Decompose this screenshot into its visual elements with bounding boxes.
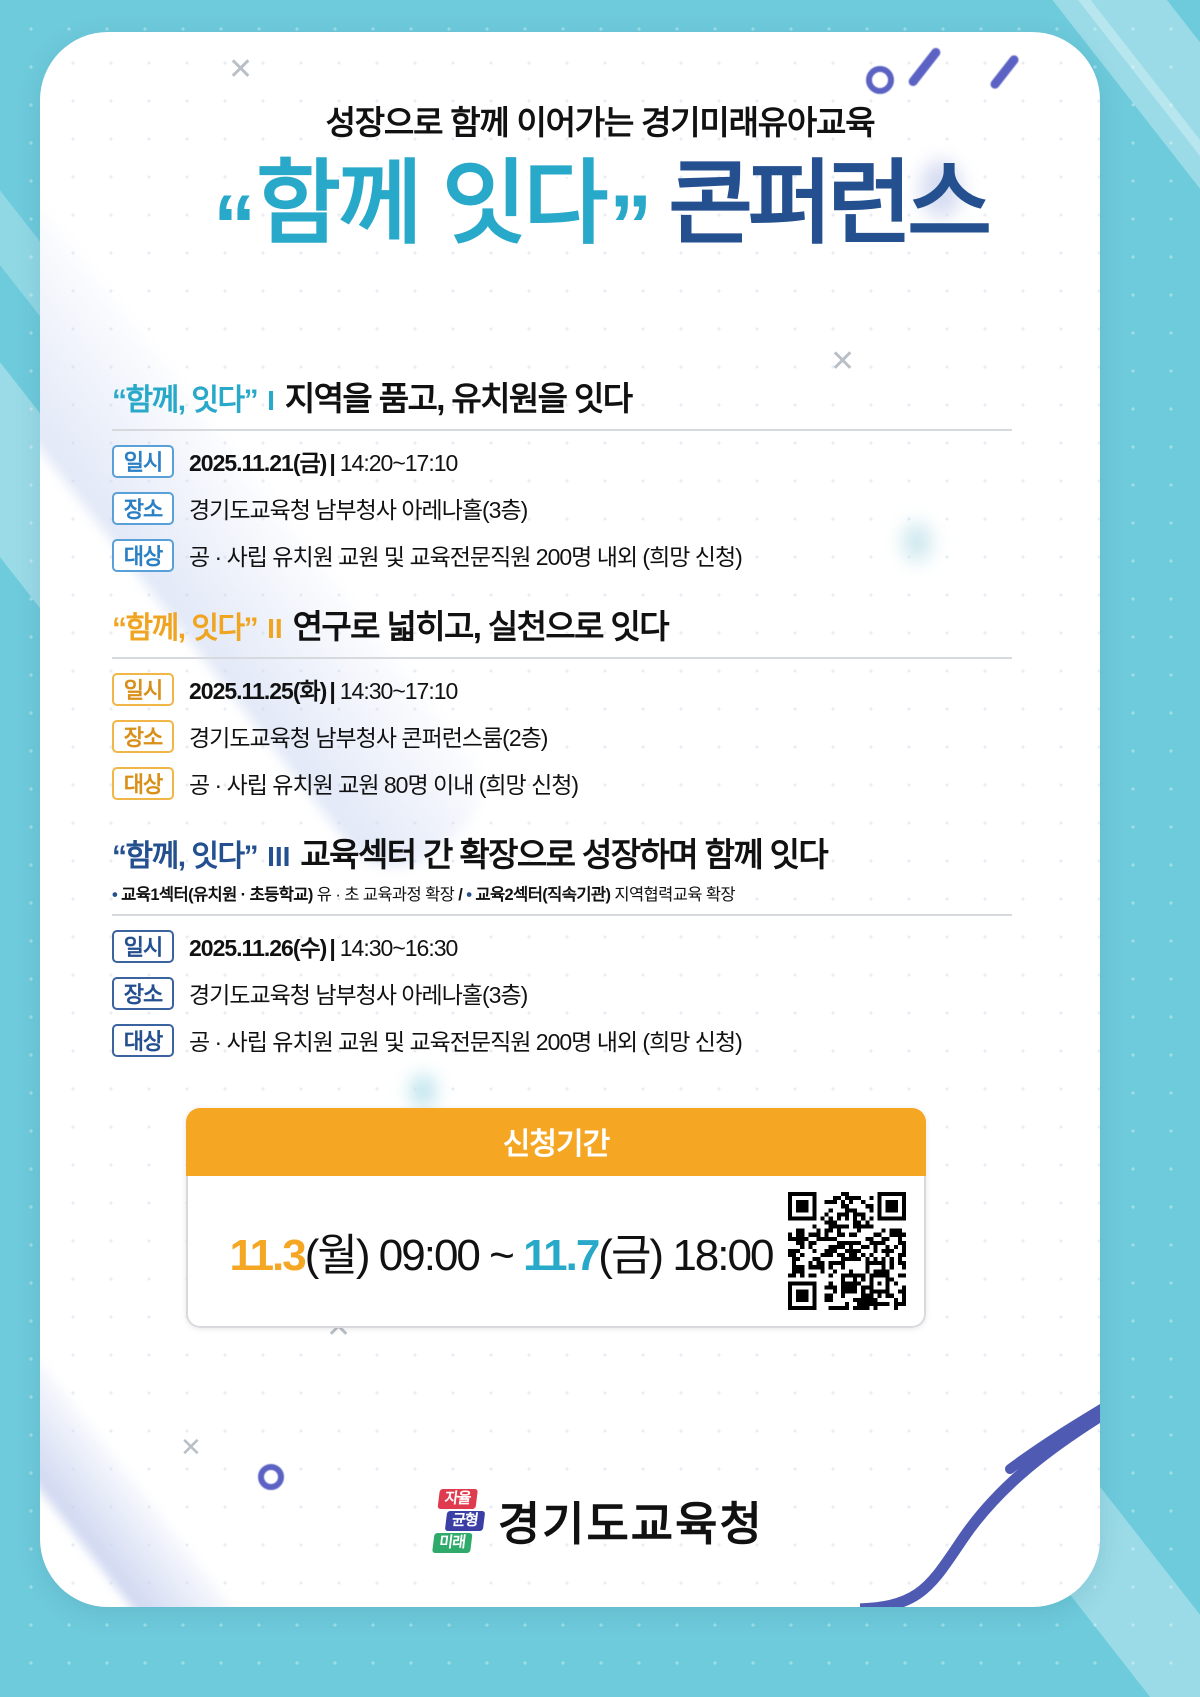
detail-row: 대상 공 · 사립 유치원 교원 80명 이내 (희망 신청) [112,766,1012,800]
detail-value: 2025.11.21(금)|14:20~17:10 [189,444,457,478]
start-date: 11.3 [230,1231,305,1280]
session-heading: “함께, 잇다” I 지역을 품고, 유치원을 잇다 [112,372,1012,420]
quote-open-icon: “ [213,196,252,256]
detail-row: 장소 경기도교육청 남부청사 콘퍼런스룸(2층) [112,719,1012,753]
session-block-2: “함께, 잇다” II 연구로 넓히고, 실천으로 잇다 일시 2025.11.… [112,600,1012,813]
session-detail-rows: 일시 2025.11.21(금)|14:20~17:10 장소 경기도교육청 남… [112,444,1012,572]
title-highlight: 함께 잇다 [256,158,605,250]
session-block-1: “함께, 잇다” I 지역을 품고, 유치원을 잇다 일시 2025.11.21… [112,372,1012,585]
application-period-heading: 신청기간 [186,1108,926,1176]
detail-separator: | [329,935,334,961]
start-time: 09:00 [379,1231,479,1280]
subtitle-part-2-text: 지역협력교육 확장 [614,886,735,904]
poster-header: 성장으로 함께 이어가는 경기미래유아교육 “ 함께 잇다 ” 콘퍼런스 [0,96,1200,250]
detail-row: 장소 경기도교육청 남부청사 아레나홀(3층) [112,976,1012,1010]
poster-card: ✕ ✕ ✕ ✕ [40,32,1100,1607]
detail-row: 장소 경기도교육청 남부청사 아레나홀(3층) [112,491,1012,525]
bullet-icon: • [466,886,471,904]
detail-value: 2025.11.25(화)|14:30~17:10 [189,672,457,706]
detail-value: 공 · 사립 유치원 교원 80명 이내 (희망 신청) [189,766,578,800]
end-date: 11.7 [523,1231,598,1280]
application-period-dates: 11.3(월) 09:00 ~ 11.7(금) 18:00 [214,1219,788,1283]
session-detail-rows: 일시 2025.11.26(수)|14:30~16:30 장소 경기도교육청 남… [112,929,1012,1057]
curved-line-decoration [860,1287,1100,1607]
detail-value-text: 14:30~17:10 [340,678,458,704]
detail-label-badge: 대상 [112,767,174,800]
detail-value-bold: 2025.11.26(수) [189,935,326,961]
detail-value: 경기도교육청 남부청사 콘퍼런스룸(2층) [189,719,547,753]
session-tag: “함께, 잇다” [112,375,257,419]
divider [112,429,1012,431]
emblem-badge-2: 균형 [445,1511,485,1531]
detail-value: 공 · 사립 유치원 교원 및 교육전문직원 200명 내외 (희망 신청) [189,538,742,572]
subtitle-part-1-bold: 교육1섹터(유치원 · 초등학교) [121,886,313,904]
detail-label-badge: 대상 [112,539,174,572]
main-title: “ 함께 잇다 ” 콘퍼런스 [0,158,1200,250]
detail-row: 대상 공 · 사립 유치원 교원 및 교육전문직원 200명 내외 (희망 신청… [112,1023,1012,1057]
detail-value-bold: 2025.11.21(금) [189,450,326,476]
divider [112,914,1012,916]
detail-label-badge: 장소 [112,492,174,525]
detail-value: 2025.11.26(수)|14:30~16:30 [189,929,457,963]
application-period-body: 11.3(월) 09:00 ~ 11.7(금) 18:00 [186,1176,926,1328]
detail-label-badge: 일시 [112,673,174,706]
session-tag: “함께, 잇다” [112,603,257,647]
detail-row: 일시 2025.11.21(금)|14:20~17:10 [112,444,1012,478]
session-block-3: “함께, 잇다” III 교육섹터 간 확장으로 성장하며 함께 잇다 • 교육… [112,828,1012,1070]
qr-code[interactable] [788,1192,906,1310]
detail-separator: | [329,450,334,476]
title-rest: 콘퍼런스 [668,158,987,250]
session-tag: “함께, 잇다” [112,831,257,875]
footer-logo: 자율 균형 미래 경기도교육청 [0,1488,1200,1554]
session-title: 교육섹터 간 확장으로 성장하며 함께 잇다 [300,828,827,876]
session-roman-numeral: I [267,385,275,417]
detail-label-badge: 일시 [112,445,174,478]
detail-separator: | [329,678,334,704]
session-title: 지역을 품고, 유치원을 잇다 [285,372,632,420]
detail-label-badge: 장소 [112,720,174,753]
detail-row: 일시 2025.11.25(화)|14:30~17:10 [112,672,1012,706]
emblem-badge-1: 자율 [438,1489,478,1509]
session-title: 연구로 넓히고, 실천으로 잇다 [293,600,668,648]
session-heading: “함께, 잇다” II 연구로 넓히고, 실천으로 잇다 [112,600,1012,648]
end-time: 18:00 [672,1231,772,1280]
subtitle-part-2-bold: 교육2섹터(직속기관) [475,886,610,904]
subtitle-slash: / [458,886,462,904]
detail-row: 일시 2025.11.26(수)|14:30~16:30 [112,929,1012,963]
emblem-badge-3: 미래 [432,1533,472,1553]
detail-row: 대상 공 · 사립 유치원 교원 및 교육전문직원 200명 내외 (희망 신청… [112,538,1012,572]
gyeonggi-emblem: 자율 균형 미래 [432,1489,487,1553]
application-period-box: 신청기간 11.3(월) 09:00 ~ 11.7(금) 18:00 [186,1108,926,1328]
range-separator: ~ [489,1231,513,1280]
detail-label-badge: 일시 [112,930,174,963]
start-day: (월) [305,1231,369,1280]
detail-label-badge: 대상 [112,1024,174,1057]
bullet-icon: • [112,886,117,904]
session-roman-numeral: II [267,613,283,645]
kicker-text: 성장으로 함께 이어가는 경기미래유아교육 [0,96,1200,144]
session-detail-rows: 일시 2025.11.25(화)|14:30~17:10 장소 경기도교육청 남… [112,672,1012,800]
detail-value: 경기도교육청 남부청사 아레나홀(3층) [189,491,527,525]
session-heading: “함께, 잇다” III 교육섹터 간 확장으로 성장하며 함께 잇다 [112,828,1012,876]
organization-name: 경기도교육청 [498,1488,764,1554]
detail-label-badge: 장소 [112,977,174,1010]
session-subtitle: • 교육1섹터(유치원 · 초등학교) 유 · 초 교육과정 확장 / • 교육… [112,881,1012,905]
detail-value: 공 · 사립 유치원 교원 및 교육전문직원 200명 내외 (희망 신청) [189,1023,742,1057]
end-day: (금) [598,1231,662,1280]
detail-value: 경기도교육청 남부청사 아레나홀(3층) [189,976,527,1010]
session-roman-numeral: III [267,841,290,873]
detail-value-text: 14:30~16:30 [340,935,458,961]
detail-value-text: 14:20~17:10 [340,450,458,476]
subtitle-part-1-text: 유 · 초 교육과정 확장 [317,886,454,904]
detail-value-bold: 2025.11.25(화) [189,678,326,704]
quote-close-icon: ” [609,196,648,256]
divider [112,657,1012,659]
